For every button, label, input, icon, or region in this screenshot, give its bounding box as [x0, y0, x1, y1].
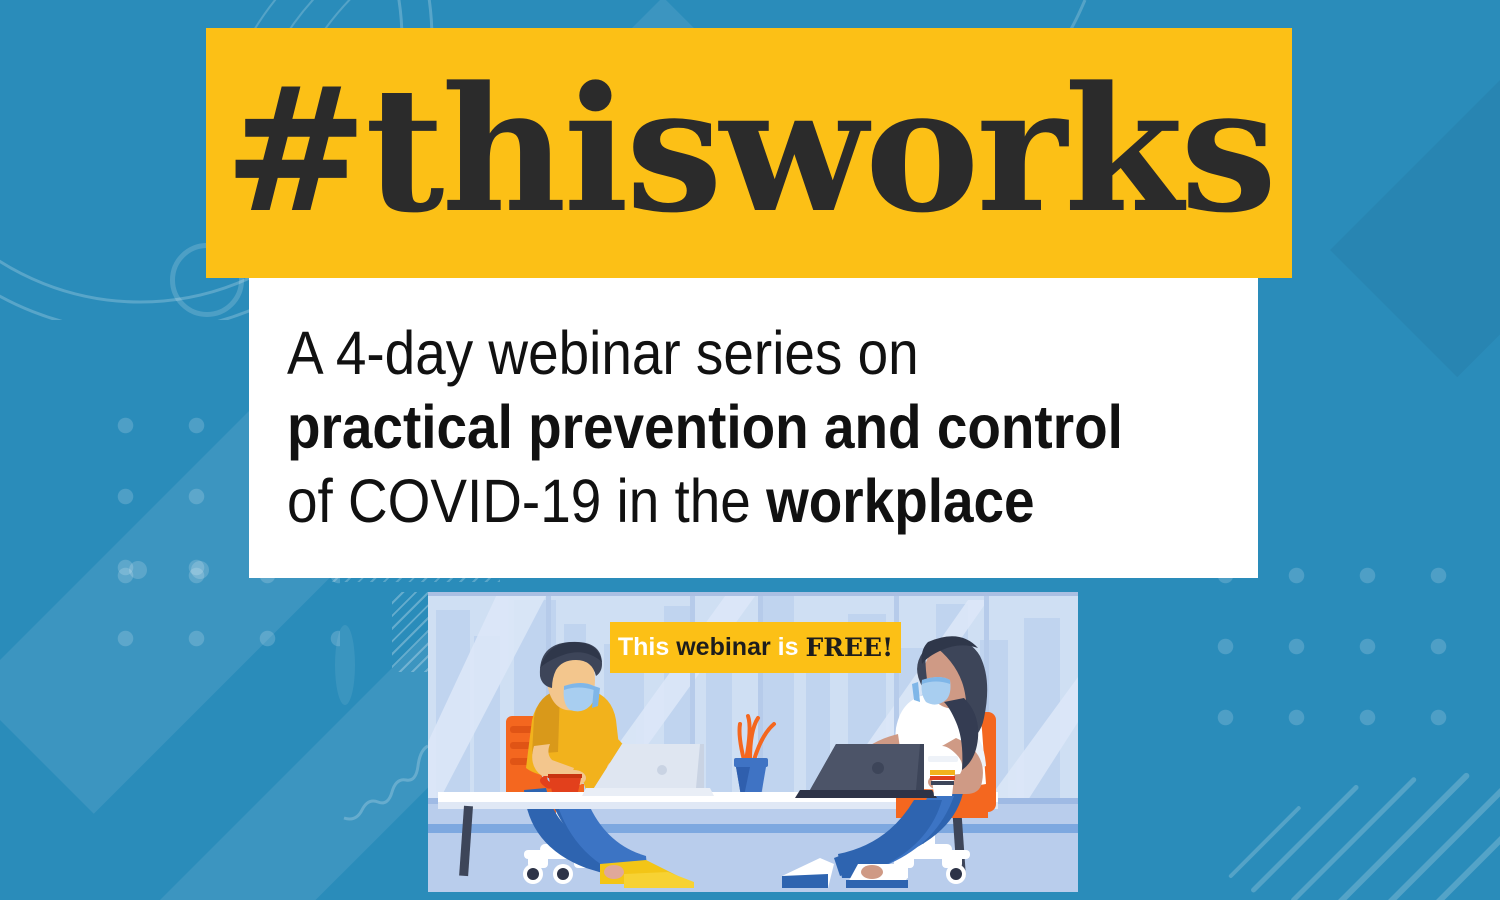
badge-text-webinar: webinar [676, 635, 770, 660]
diagonal-band-right-dark [1330, 0, 1500, 377]
slash-lines-bottom-right [1250, 700, 1500, 900]
subtitle-box: A 4-day webinar series on practical prev… [249, 278, 1258, 578]
free-webinar-badge: This webinar is FREE! [610, 622, 901, 673]
title-banner: #thisworks [206, 28, 1292, 278]
poster-canvas: #thisworks A 4-day webinar series on pra… [0, 0, 1500, 900]
page-title: #thisworks [224, 73, 1274, 228]
badge-text-this: This [618, 635, 676, 660]
subtitle-line-2: practical prevention and control [287, 390, 1138, 464]
subtitle-line-3-bold: workplace [766, 467, 1035, 535]
accent-dots-decoration [128, 552, 238, 588]
badge-text-free: FREE! [805, 635, 893, 660]
lens-shape-decoration [335, 625, 355, 705]
subtitle-line-3: of COVID-19 in the workplace [287, 464, 1138, 538]
subtitle-line-1: A 4-day webinar series on [287, 316, 1138, 390]
subtitle-line-3-regular: of COVID-19 in the [287, 467, 766, 535]
squiggle-line-decoration-bottom [340, 742, 430, 822]
badge-text-is: is [771, 635, 806, 660]
